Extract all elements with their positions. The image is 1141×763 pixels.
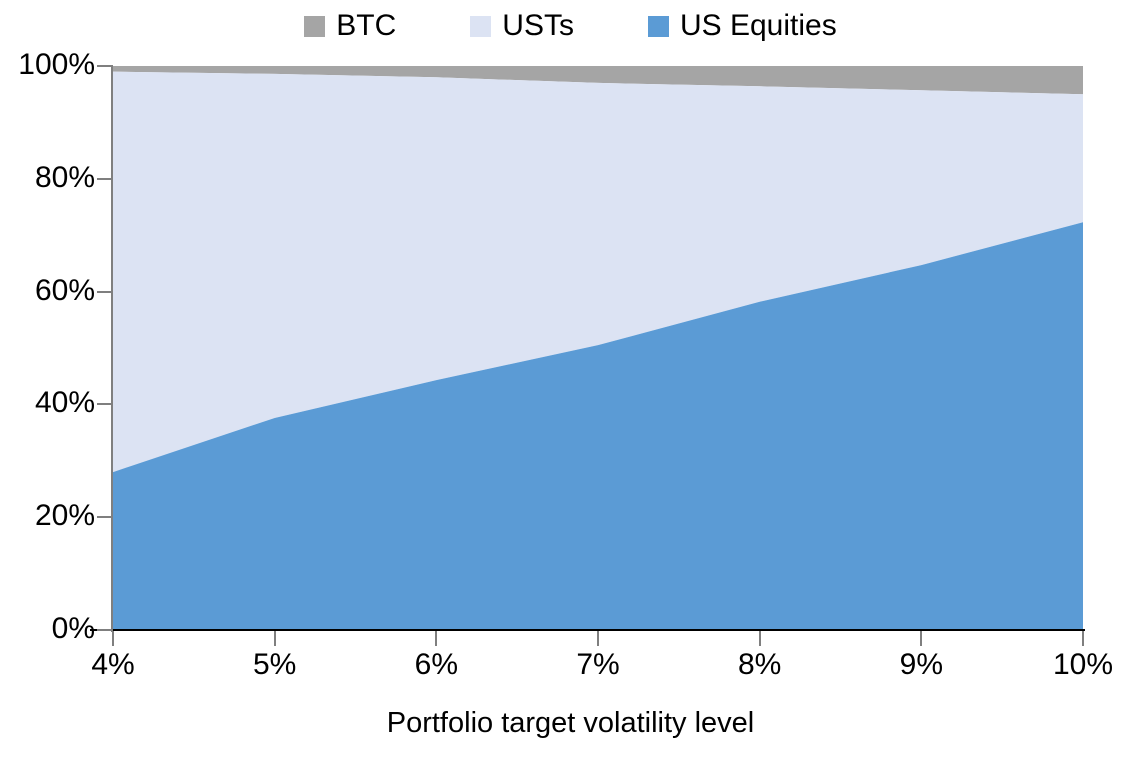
y-axis-tick [97,178,113,180]
legend-label-us-equities: US Equities [680,11,837,41]
x-axis-tick [1082,631,1084,646]
x-axis-tick [435,631,437,646]
y-axis-tick [97,629,113,631]
legend-swatch-usts [470,16,491,37]
legend-label-btc: BTC [336,11,396,41]
x-axis-tick [759,631,761,646]
legend-item-usts[interactable]: USTs [470,11,574,41]
x-axis-tick [920,631,922,646]
x-axis-tick-label: 9% [900,650,943,680]
y-axis-tick [97,516,113,518]
legend-swatch-btc [304,16,325,37]
area-series-svg [113,66,1083,630]
y-axis-tick-label: 100% [5,50,95,80]
x-axis-tick-label: 7% [576,650,619,680]
chart-legend: BTC USTs US Equities [0,8,1141,44]
x-axis-tick [274,631,276,646]
x-axis-tick [597,631,599,646]
y-axis-tick-label: 80% [5,163,95,193]
x-axis-title: Portfolio target volatility level [0,706,1141,740]
y-axis-tick [97,65,113,67]
y-axis-labels: 100%80%60%40%20%0% [0,0,95,763]
x-axis-tick-label: 4% [91,650,134,680]
x-axis-tick-label: 6% [415,650,458,680]
legend-item-btc[interactable]: BTC [304,11,396,41]
x-axis-tick-label: 10% [1053,650,1113,680]
y-axis-tick-label: 0% [5,614,95,644]
x-axis-tick [112,631,114,646]
y-axis-tick-label: 20% [5,501,95,531]
legend-label-usts: USTs [502,11,574,41]
y-axis-tick-label: 60% [5,276,95,306]
x-axis-tick-label: 5% [253,650,296,680]
y-axis-tick [97,403,113,405]
legend-swatch-us-equities [648,16,669,37]
y-axis-tick-label: 40% [5,388,95,418]
stacked-area-chart: BTC USTs US Equities 100%80%60%40%20%0% … [0,0,1141,763]
y-axis-tick [97,291,113,293]
legend-item-us-equities[interactable]: US Equities [648,11,837,41]
plot-area [113,66,1083,630]
x-axis-line [90,629,1085,631]
x-axis-tick-label: 8% [738,650,781,680]
y-axis-line [111,65,113,632]
